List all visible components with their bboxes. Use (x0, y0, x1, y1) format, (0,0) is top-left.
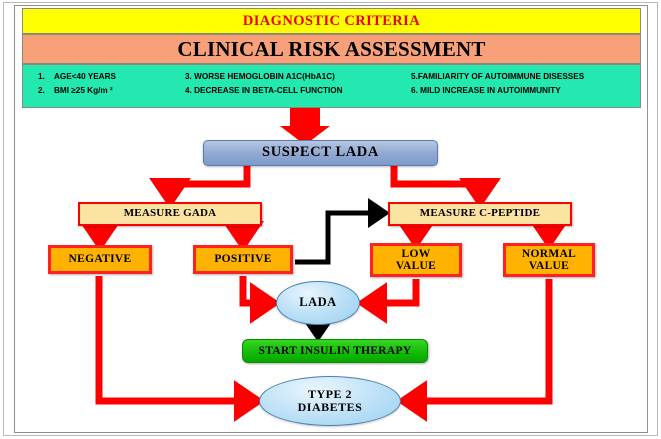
node-type-2-diabetes[interactable]: TYPE 2 DIABETES (259, 376, 401, 426)
node-low-value-line1: LOW (396, 248, 436, 260)
node-suspect-lada-label: SUSPECT LADA (262, 145, 379, 160)
node-positive[interactable]: POSITIVE (193, 245, 293, 274)
node-type-2-diabetes-line2: DIABETES (298, 401, 363, 414)
node-type-2-diabetes-label: TYPE 2 DIABETES (298, 388, 363, 413)
node-measure-c-peptide-label: MEASURE C-PEPTIDE (420, 208, 540, 220)
diagram-canvas: DIAGNOSTIC CRITERIA CLINICAL RISK ASSESS… (0, 0, 661, 439)
edge-positive-to-cpeptide (295, 213, 381, 262)
node-start-insulin-therapy-label: START INSULIN THERAPY (259, 345, 412, 357)
node-start-insulin-therapy[interactable]: START INSULIN THERAPY (242, 339, 428, 363)
edge-positive-to-lada (243, 276, 268, 303)
edge-suspect-to-cpeptide (394, 166, 480, 196)
edge-normal-to-type2 (409, 279, 549, 401)
node-suspect-lada[interactable]: SUSPECT LADA (203, 140, 438, 166)
node-normal-value-line2: VALUE (522, 260, 576, 272)
node-normal-value[interactable]: NORMAL VALUE (503, 243, 595, 277)
node-lada[interactable]: LADA (276, 281, 360, 325)
node-measure-gada-label: MEASURE GADA (124, 208, 217, 220)
node-lada-label: LADA (299, 296, 336, 309)
node-low-value-label: LOW VALUE (396, 248, 436, 272)
node-low-value[interactable]: LOW VALUE (370, 243, 462, 277)
edge-negative-to-type2 (99, 276, 252, 401)
node-measure-c-peptide[interactable]: MEASURE C-PEPTIDE (388, 202, 572, 226)
node-low-value-line2: VALUE (396, 260, 436, 272)
node-positive-label: POSITIVE (214, 253, 271, 265)
edge-suspect-to-gada (170, 166, 247, 196)
node-negative-label: NEGATIVE (69, 253, 132, 265)
node-negative[interactable]: NEGATIVE (48, 245, 152, 274)
node-measure-gada[interactable]: MEASURE GADA (78, 202, 262, 226)
node-normal-value-line1: NORMAL (522, 248, 576, 260)
edge-low-to-lada (369, 279, 416, 303)
node-normal-value-label: NORMAL VALUE (522, 248, 576, 272)
